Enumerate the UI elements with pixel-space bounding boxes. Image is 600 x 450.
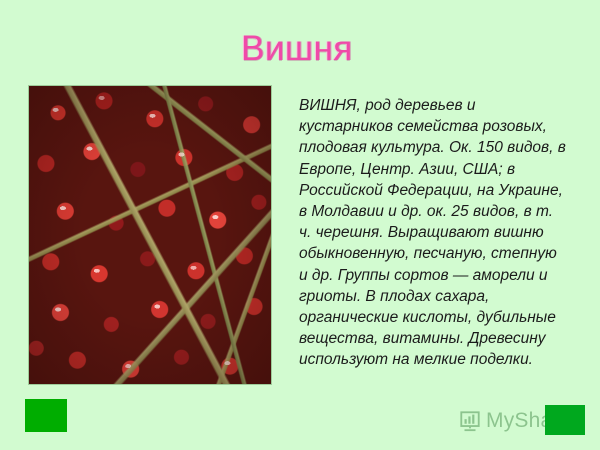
presentation-chart-icon: [459, 410, 481, 432]
watermark-green-square: [545, 405, 585, 435]
page-title: Вишня: [241, 28, 353, 69]
cherries-photo: [28, 85, 272, 385]
presentation-slide: Вишня ВИШНЯ, род деревьев и кустарников …: [0, 0, 600, 450]
green-rectangle: [25, 399, 67, 432]
body-text: ВИШНЯ, род деревьев и кустарников семейс…: [299, 95, 567, 371]
cherry-vignette-layer: [29, 86, 271, 384]
